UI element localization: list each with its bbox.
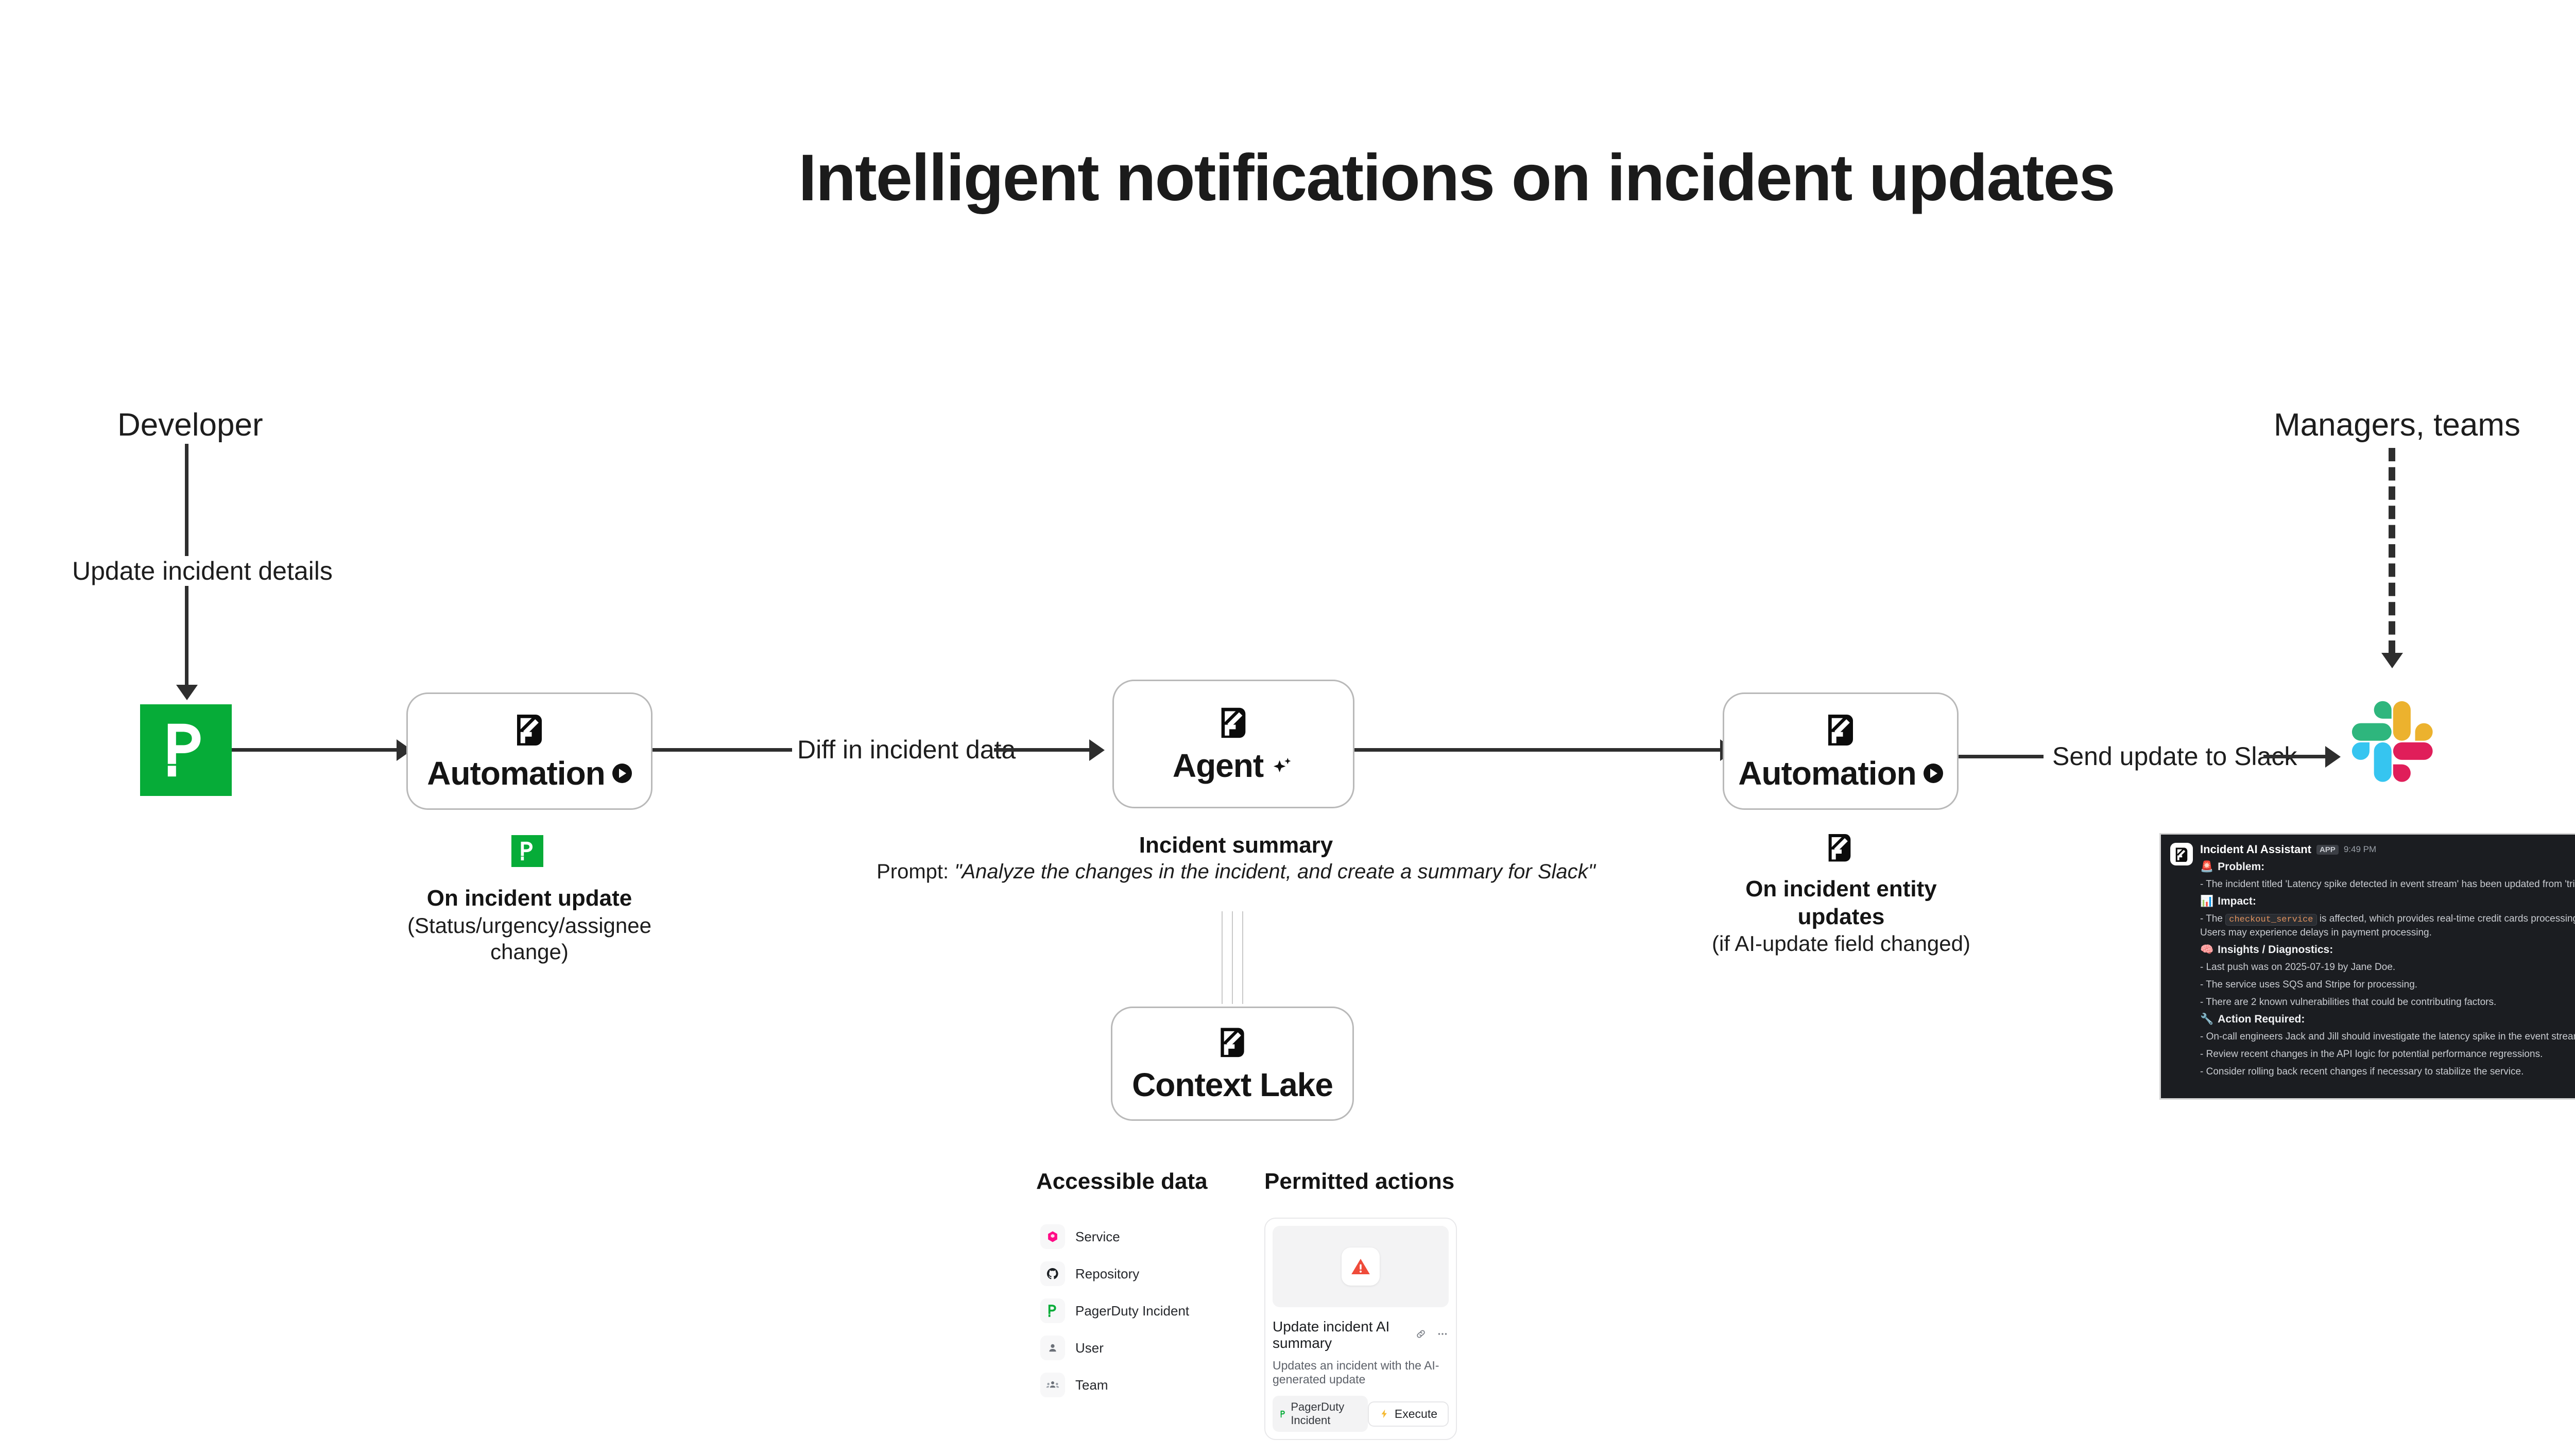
edge-automation-1-to-agent-left	[653, 748, 797, 752]
port-automation-icon	[1823, 830, 1856, 863]
edge-agent-to-automation-2	[1354, 748, 1720, 752]
edge-label-update-incident-details: Update incident details	[67, 556, 338, 586]
action-card-footer: PagerDuty Incident Execute	[1273, 1396, 1449, 1432]
list-item-label: Repository	[1075, 1266, 1139, 1282]
slack-message-head: Incident AI Assistant APP 9:49 PM 🚨 Prob…	[2170, 843, 2575, 1078]
pagerduty-icon	[161, 721, 211, 779]
link-icon[interactable]	[1415, 1328, 1427, 1343]
caption-agent-prompt-quote: "Analyze the changes in the incident, an…	[954, 860, 1595, 883]
port-context-lake-icon	[1215, 1024, 1250, 1059]
action-card-title: Update incident AI summary	[1273, 1319, 1415, 1351]
permitted-actions-heading: Permitted actions	[1264, 1169, 1454, 1194]
slack-message-body: Incident AI Assistant APP 9:49 PM 🚨 Prob…	[2200, 843, 2575, 1078]
node-context-lake-label: Context Lake	[1132, 1066, 1333, 1104]
node-context-lake-title: Context Lake	[1132, 1066, 1333, 1104]
actor-label-developer: Developer	[117, 407, 263, 443]
node-automation-2-title: Automation	[1738, 754, 1943, 792]
node-slack-destination[interactable]	[2348, 698, 2433, 785]
brain-icon: 🧠	[2200, 944, 2213, 956]
slack-timestamp: 9:49 PM	[2344, 844, 2376, 855]
caption-automation-2: On incident entity updates (if AI-update…	[1702, 875, 1980, 957]
node-agent[interactable]: Agent	[1112, 680, 1354, 808]
slack-line: - On-call engineers Jack and Jill should…	[2200, 1030, 2575, 1043]
slack-section-heading-insights: 🧠 Insights / Diagnostics:	[2200, 944, 2575, 956]
team-icon	[1040, 1373, 1065, 1397]
warning-triangle-icon	[1342, 1247, 1380, 1286]
slack-author-row: Incident AI Assistant APP 9:49 PM	[2200, 843, 2575, 856]
slack-section-heading-problem-text: Problem:	[2218, 861, 2264, 873]
list-item-label: PagerDuty Incident	[1075, 1303, 1189, 1319]
slack-line: - Consider rolling back recent changes i…	[2200, 1065, 2575, 1078]
caption-agent-strong: Incident summary	[772, 831, 1699, 859]
node-agent-label: Agent	[1173, 747, 1263, 785]
list-item[interactable]: Repository	[1040, 1261, 1189, 1286]
action-card-update-incident-ai-summary[interactable]: Update incident AI summary Updates an in…	[1264, 1218, 1457, 1440]
accessible-data-list: Service Repository PagerDuty Incident	[1040, 1224, 1189, 1397]
slack-line: - There are 2 known vulnerabilities that…	[2200, 996, 2575, 1009]
caption-agent-prompt: Prompt: "Analyze the changes in the inci…	[772, 859, 1699, 885]
pagerduty-icon	[1280, 1409, 1286, 1419]
github-icon	[1040, 1261, 1065, 1286]
pagerduty-icon	[1040, 1298, 1065, 1323]
caption-icon-pagerduty-automation-1	[511, 835, 543, 867]
slack-line-impact: - The checkout_service is affected, whic…	[2200, 912, 2575, 939]
sparkle-icon	[1271, 754, 1294, 777]
slack-line: - The incident titled 'Latency spike det…	[2200, 878, 2575, 891]
slack-impact-prefix: - The	[2200, 913, 2225, 924]
node-pagerduty-source[interactable]	[140, 704, 232, 796]
execute-button[interactable]: Execute	[1368, 1401, 1449, 1427]
slack-section-heading-impact-text: Impact:	[2218, 895, 2256, 908]
node-automation-1-title: Automation	[427, 754, 632, 792]
slack-line: - The service uses SQS and Stripe for pr…	[2200, 978, 2575, 991]
arrowhead-automation-1-to-agent	[1089, 739, 1105, 761]
list-item-label: Team	[1075, 1377, 1108, 1393]
rotating-light-icon: 🚨	[2200, 861, 2213, 873]
caption-automation-1: On incident update (Status/urgency/assig…	[406, 885, 653, 965]
blueprint-pill-label: PagerDuty Incident	[1291, 1400, 1361, 1427]
node-automation-2-label: Automation	[1738, 754, 1916, 792]
action-card-description: Updates an incident with the AI-generate…	[1273, 1359, 1449, 1386]
caption-agent-prompt-prefix: Prompt:	[877, 860, 954, 883]
caption-automation-2-sub: (if AI-update field changed)	[1702, 930, 1980, 957]
slack-section-heading-action: 🔧 Action Required:	[2200, 1013, 2575, 1026]
list-item[interactable]: User	[1040, 1336, 1189, 1360]
bar-chart-icon: 📊	[2200, 895, 2213, 908]
caption-automation-1-sub: (Status/urgency/assignee change)	[406, 912, 653, 965]
caption-automation-2-strong: On incident entity updates	[1702, 875, 1980, 930]
lightning-icon	[1379, 1408, 1389, 1419]
execute-button-label: Execute	[1395, 1407, 1437, 1421]
slack-section-heading-insights-text: Insights / Diagnostics:	[2218, 944, 2333, 956]
more-horizontal-icon[interactable]	[1436, 1328, 1449, 1343]
caption-automation-1-strong: On incident update	[406, 885, 653, 912]
play-badge-icon	[612, 764, 632, 783]
slack-line: - Review recent changes in the API logic…	[2200, 1048, 2575, 1061]
user-icon	[1040, 1336, 1065, 1360]
caption-icon-port-automation-2	[1823, 830, 1856, 865]
slack-line: - Last push was on 2025-07-19 by Jane Do…	[2200, 961, 2575, 974]
node-agent-title: Agent	[1173, 747, 1294, 785]
edge-pagerduty-to-automation-1	[232, 748, 397, 752]
port-automation-icon	[1822, 710, 1859, 747]
node-automation-2[interactable]: Automation	[1723, 692, 1959, 810]
node-automation-1[interactable]: Automation	[406, 692, 653, 810]
slack-section-heading-impact: 📊 Impact:	[2200, 895, 2575, 908]
caption-agent: Incident summary Prompt: "Analyze the ch…	[772, 831, 1699, 884]
diagram-canvas: Intelligent notifications on incident up…	[0, 0, 2575, 1456]
blueprint-pill-pagerduty-incident[interactable]: PagerDuty Incident	[1273, 1396, 1368, 1432]
list-item[interactable]: Team	[1040, 1373, 1189, 1397]
edge-automation-1-to-agent-right	[994, 748, 1089, 752]
port-app-icon	[2174, 846, 2189, 862]
list-item[interactable]: Service	[1040, 1224, 1189, 1249]
list-item[interactable]: PagerDuty Incident	[1040, 1298, 1189, 1323]
edge-label-diff-in-incident-data: Diff in incident data	[792, 735, 1021, 765]
arrowhead-managers-to-slack	[2381, 653, 2403, 668]
pagerduty-icon	[519, 841, 536, 861]
edge-automation-2-to-slack-right	[2263, 755, 2325, 758]
page-title: Intelligent notifications on incident up…	[0, 140, 2575, 216]
arrowhead-automation-2-to-slack	[2325, 746, 2341, 768]
port-automation-icon	[511, 710, 548, 747]
arrowhead-developer-to-pagerduty	[176, 685, 198, 700]
slack-author-name: Incident AI Assistant	[2200, 843, 2311, 856]
node-automation-1-label: Automation	[427, 754, 605, 792]
slack-section-heading-problem: 🚨 Problem:	[2200, 861, 2575, 873]
connector-agent-to-context-lake	[1222, 911, 1245, 1004]
slack-message-card[interactable]: Incident AI Assistant APP 9:49 PM 🚨 Prob…	[2159, 833, 2575, 1100]
edge-automation-2-to-slack-left	[1959, 755, 2044, 758]
play-badge-icon	[1924, 764, 1943, 783]
action-card-hero	[1273, 1226, 1449, 1307]
list-item-label: User	[1075, 1340, 1104, 1356]
edge-managers-to-slack	[2389, 448, 2395, 654]
accessible-data-heading: Accessible data	[1036, 1169, 1208, 1194]
slack-logo-icon	[2348, 698, 2433, 783]
actor-label-managers-teams: Managers, teams	[2274, 407, 2520, 443]
slack-section-heading-action-text: Action Required:	[2218, 1013, 2305, 1026]
slack-inline-code: checkout_service	[2225, 914, 2316, 926]
list-item-label: Service	[1075, 1229, 1120, 1245]
action-card-title-row: Update incident AI summary	[1273, 1319, 1449, 1351]
action-card-icon-group	[1415, 1328, 1449, 1343]
node-context-lake[interactable]: Context Lake	[1111, 1007, 1354, 1121]
service-cube-icon	[1040, 1224, 1065, 1249]
slack-app-tag: APP	[2316, 845, 2339, 855]
port-agent-icon	[1215, 703, 1251, 739]
avatar	[2170, 843, 2193, 865]
wrench-icon: 🔧	[2200, 1013, 2213, 1026]
